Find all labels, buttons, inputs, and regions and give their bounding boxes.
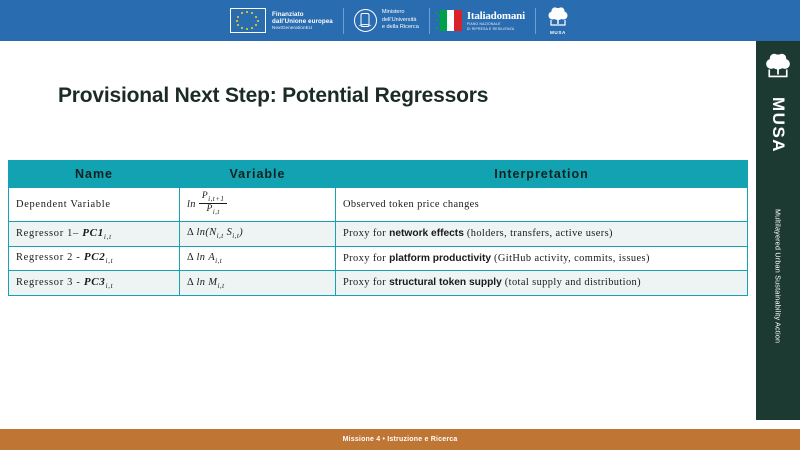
row-name-symbol: PC3 [84, 276, 106, 288]
row-variable: ln Pi,t+1 Pi,t [180, 188, 336, 222]
row-interpretation: Observed token price changes [336, 188, 748, 222]
italiadomani-logo: Italiadomani PIANO NAZIONALE DI RIPRESA … [430, 6, 535, 36]
italiadomani-subtitle-2: DI RIPRESA E RESILIENZA [467, 28, 525, 32]
row-name: Regressor 3 - PC3i,t [9, 271, 180, 296]
row-name: Dependent Variable [9, 188, 180, 222]
variable-term-1-sub: i,t [215, 257, 222, 265]
italiadomani-title: Italiadomani [467, 10, 525, 22]
flag-dots-decoration [436, 12, 442, 29]
musa-header-label: MUSA [550, 30, 566, 35]
musa-header-logo: MUSA [536, 6, 580, 36]
sidebar-logo [763, 53, 793, 86]
slide-footer: Missione 4 • Istruzione e Ricerca [0, 429, 800, 450]
ministero-line-1: Ministero [382, 9, 419, 17]
variable-operator: ln [197, 277, 206, 288]
interpretation-pre: Observed token price changes [343, 199, 479, 210]
ministero-text: Ministero dell'Università e della Ricerc… [382, 9, 419, 32]
regressors-table-wrap: Name Variable Interpretation Dependent V… [8, 160, 748, 296]
eu-line-1: Finanziato [272, 11, 333, 18]
eu-funding-logo: Finanziato dall'Unione europea NextGener… [220, 6, 343, 36]
row-variable: Δ ln(Ni,t Si,t) [180, 221, 336, 246]
table-body: Dependent Variable ln Pi,t+1 Pi,t Observ… [9, 188, 748, 296]
interpretation-post: (holders, transfers, active users) [464, 228, 613, 239]
table-head: Name Variable Interpretation [9, 161, 748, 188]
variable-operator: ln [187, 199, 196, 210]
interpretation-highlight: network effects [389, 228, 464, 239]
row-name-prefix: Regressor 3 - [16, 277, 84, 288]
variable-fraction: Pi,t+1 Pi,t [199, 191, 227, 216]
interpretation-highlight: platform productivity [389, 253, 491, 264]
variable-delta: Δ [187, 227, 194, 238]
variable-delta: Δ [187, 277, 194, 288]
row-interpretation: Proxy for platform productivity (GitHub … [336, 246, 748, 271]
eu-funding-text: Finanziato dall'Unione europea NextGener… [272, 11, 333, 31]
table-row: Regressor 2 - PC2i,t Δ ln Ai,t Proxy for… [9, 246, 748, 271]
sidebar-brand: MUSA [768, 97, 788, 153]
column-header-name: Name [9, 161, 180, 188]
interpretation-pre: Proxy for [343, 253, 389, 264]
variable-operator: ln [197, 252, 206, 263]
row-variable: Δ ln Mi,t [180, 271, 336, 296]
row-name-sub: i,t [105, 257, 113, 265]
page-title: Provisional Next Step: Potential Regress… [58, 84, 488, 108]
ministero-line-2: dell'Università [382, 17, 419, 25]
italiadomani-subtitle-1: PIANO NAZIONALE [467, 23, 525, 27]
ministero-logo: Ministero dell'Università e della Ricerc… [344, 6, 429, 36]
row-interpretation: Proxy for structural token supply (total… [336, 271, 748, 296]
regressors-table: Name Variable Interpretation Dependent V… [8, 160, 748, 296]
row-name-prefix: Regressor 2 - [16, 252, 84, 263]
row-name-symbol: PC2 [84, 251, 106, 263]
funding-banner: Finanziato dall'Unione europea NextGener… [0, 0, 800, 41]
slide-canvas: Finanziato dall'Unione europea NextGener… [0, 0, 800, 450]
table-row: Dependent Variable ln Pi,t+1 Pi,t Observ… [9, 188, 748, 222]
table-row: Regressor 1– PC1i,t Δ ln(Ni,t Si,t) Prox… [9, 221, 748, 246]
table-header-row: Name Variable Interpretation [9, 161, 748, 188]
row-variable: Δ ln Ai,t [180, 246, 336, 271]
sidebar-tagline: Multilayered Urban Sustainability Action [774, 209, 783, 343]
variable-term-1-sub: i,t [217, 232, 224, 240]
musa-tree-icon [546, 7, 570, 29]
variable-term-1: N [209, 227, 216, 238]
eu-line-2: dall'Unione europea [272, 18, 333, 25]
row-name-sub: i,t [104, 233, 112, 241]
fraction-numerator-sub: i,t+1 [208, 195, 224, 203]
variable-term-1-sub: i,t [217, 282, 224, 290]
interpretation-pre: Proxy for [343, 228, 389, 239]
column-header-interpretation: Interpretation [336, 161, 748, 188]
table-row: Regressor 3 - PC3i,t Δ ln Mi,t Proxy for… [9, 271, 748, 296]
interpretation-highlight: structural token supply [389, 277, 502, 288]
row-name-symbol: PC1 [82, 227, 104, 239]
italian-flag-icon [440, 10, 462, 31]
column-header-variable: Variable [180, 161, 336, 188]
interpretation-post: (GitHub activity, commits, issues) [491, 253, 650, 264]
musa-sidebar: MUSA Multilayered Urban Sustainability A… [756, 41, 800, 420]
funding-logo-group: Finanziato dall'Unione europea NextGener… [220, 0, 580, 41]
ministero-line-3: e della Ricerca [382, 24, 419, 32]
italiadomani-text: Italiadomani PIANO NAZIONALE DI RIPRESA … [467, 10, 525, 32]
musa-tree-icon [763, 53, 793, 81]
eu-flag-icon [230, 8, 266, 33]
fraction-denominator-sub: i,t [213, 208, 220, 216]
interpretation-post: (total supply and distribution) [502, 277, 641, 288]
interpretation-pre: Proxy for [343, 277, 389, 288]
row-name: Regressor 2 - PC2i,t [9, 246, 180, 271]
row-name-sub: i,t [105, 282, 113, 290]
row-interpretation: Proxy for network effects (holders, tran… [336, 221, 748, 246]
republic-emblem-icon [354, 9, 377, 32]
footer-text: Missione 4 • Istruzione e Ricerca [343, 436, 458, 443]
row-name: Regressor 1– PC1i,t [9, 221, 180, 246]
variable-delta: Δ [187, 252, 194, 263]
row-name-prefix: Regressor 1– [16, 228, 82, 239]
eu-line-3: NextGenerationEU [272, 25, 333, 30]
